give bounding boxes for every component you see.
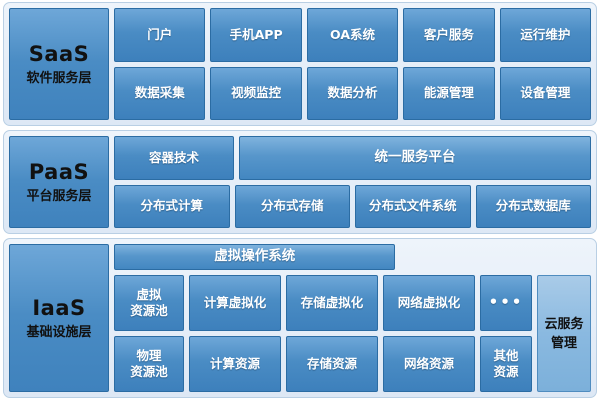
layer-name-iaas: 基础设施层 bbox=[26, 326, 91, 339]
iaas-topbar: 虚拟操作系统 bbox=[114, 244, 591, 270]
iaas-item-other-resource-line1: 其他 bbox=[493, 349, 518, 363]
saas-item-operations[interactable]: 运行维护 bbox=[500, 8, 591, 62]
saas-item-device-management[interactable]: 设备管理 bbox=[500, 67, 591, 121]
iaas-main: 虚拟 资源池 计算虚拟化 存储虚拟化 网络虚拟化 ••• 物理 资源池 bbox=[114, 275, 591, 392]
paas-row-2: 分布式计算 分布式存储 分布式文件系统 分布式数据库 bbox=[114, 185, 591, 229]
iaas-item-cloud-service-management[interactable]: 云服务 管理 bbox=[537, 275, 591, 392]
iaas-item-other-resource[interactable]: 其他 资源 bbox=[480, 336, 532, 392]
iaas-item-other-resource-line2: 资源 bbox=[493, 365, 518, 379]
iaas-item-more-virtualization-ellipsis[interactable]: ••• bbox=[480, 275, 532, 331]
layer-label-iaas: IaaS 基础设施层 bbox=[9, 244, 109, 392]
iaas-item-storage-virtualization[interactable]: 存储虚拟化 bbox=[286, 275, 378, 331]
saas-item-data-collection[interactable]: 数据采集 bbox=[114, 67, 205, 121]
layer-abbr-iaas: IaaS bbox=[32, 298, 85, 319]
iaas-item-virtual-resource-pool-line2: 资源池 bbox=[130, 304, 168, 318]
cloud-service-management-line1: 云服务 bbox=[544, 318, 583, 331]
layer-body-iaas: 虚拟操作系统 虚拟 资源池 计算虚拟化 存储虚拟化 网络虚拟化 ••• bbox=[114, 244, 591, 392]
iaas-item-virtual-resource-pool-line1: 虚拟 bbox=[136, 288, 161, 302]
saas-item-video-monitoring[interactable]: 视频监控 bbox=[210, 67, 301, 121]
paas-item-distributed-storage[interactable]: 分布式存储 bbox=[235, 185, 351, 229]
paas-item-distributed-filesystem[interactable]: 分布式文件系统 bbox=[355, 185, 471, 229]
iaas-item-physical-resource-pool-line1: 物理 bbox=[136, 349, 161, 363]
layer-panel-saas: SaaS 软件服务层 门户 手机APP OA系统 客户服务 运行维护 数据采集 … bbox=[3, 2, 597, 126]
architecture-diagram: SaaS 软件服务层 门户 手机APP OA系统 客户服务 运行维护 数据采集 … bbox=[0, 0, 600, 400]
iaas-topbar-spacer bbox=[395, 244, 591, 270]
paas-item-distributed-database[interactable]: 分布式数据库 bbox=[476, 185, 592, 229]
iaas-item-storage-resource[interactable]: 存储资源 bbox=[286, 336, 378, 392]
layer-panel-paas: PaaS 平台服务层 容器技术 统一服务平台 分布式计算 分布式存储 分布式文件… bbox=[3, 130, 597, 234]
layer-abbr-paas: PaaS bbox=[29, 162, 89, 183]
iaas-item-compute-virtualization[interactable]: 计算虚拟化 bbox=[189, 275, 281, 331]
iaas-item-virtual-os[interactable]: 虚拟操作系统 bbox=[114, 244, 395, 270]
layer-body-paas: 容器技术 统一服务平台 分布式计算 分布式存储 分布式文件系统 分布式数据库 bbox=[114, 136, 591, 228]
iaas-item-network-virtualization[interactable]: 网络虚拟化 bbox=[383, 275, 475, 331]
saas-item-customer-service[interactable]: 客户服务 bbox=[403, 8, 494, 62]
paas-item-unified-service-platform[interactable]: 统一服务平台 bbox=[239, 136, 591, 180]
iaas-item-physical-resource-pool[interactable]: 物理 资源池 bbox=[114, 336, 184, 392]
saas-item-data-analysis[interactable]: 数据分析 bbox=[307, 67, 398, 121]
iaas-resource-grid: 虚拟 资源池 计算虚拟化 存储虚拟化 网络虚拟化 ••• 物理 资源池 bbox=[114, 275, 532, 392]
iaas-item-network-resource[interactable]: 网络资源 bbox=[383, 336, 475, 392]
layer-label-saas: SaaS 软件服务层 bbox=[9, 8, 109, 120]
iaas-row-virtualization: 虚拟 资源池 计算虚拟化 存储虚拟化 网络虚拟化 ••• bbox=[114, 275, 532, 331]
layer-abbr-saas: SaaS bbox=[29, 44, 90, 65]
saas-row-1: 门户 手机APP OA系统 客户服务 运行维护 bbox=[114, 8, 591, 62]
saas-item-mobile-app[interactable]: 手机APP bbox=[210, 8, 301, 62]
iaas-item-compute-resource[interactable]: 计算资源 bbox=[189, 336, 281, 392]
cloud-service-management-line2: 管理 bbox=[551, 337, 577, 350]
iaas-item-physical-resource-pool-line2: 资源池 bbox=[130, 365, 168, 379]
layer-name-paas: 平台服务层 bbox=[26, 190, 91, 203]
layer-name-saas: 软件服务层 bbox=[26, 72, 91, 85]
layer-label-paas: PaaS 平台服务层 bbox=[9, 136, 109, 228]
saas-item-oa-system[interactable]: OA系统 bbox=[307, 8, 398, 62]
iaas-item-virtual-resource-pool[interactable]: 虚拟 资源池 bbox=[114, 275, 184, 331]
layer-panel-iaas: IaaS 基础设施层 虚拟操作系统 虚拟 资源池 计算虚拟化 存储虚拟化 bbox=[3, 238, 597, 398]
iaas-row-resources: 物理 资源池 计算资源 存储资源 网络资源 其他 资源 bbox=[114, 336, 532, 392]
paas-item-container-tech[interactable]: 容器技术 bbox=[114, 136, 234, 180]
saas-item-portal[interactable]: 门户 bbox=[114, 8, 205, 62]
paas-item-distributed-computing[interactable]: 分布式计算 bbox=[114, 185, 230, 229]
layer-body-saas: 门户 手机APP OA系统 客户服务 运行维护 数据采集 视频监控 数据分析 能… bbox=[114, 8, 591, 120]
paas-row-1: 容器技术 统一服务平台 bbox=[114, 136, 591, 180]
saas-item-energy-management[interactable]: 能源管理 bbox=[403, 67, 494, 121]
saas-row-2: 数据采集 视频监控 数据分析 能源管理 设备管理 bbox=[114, 67, 591, 121]
